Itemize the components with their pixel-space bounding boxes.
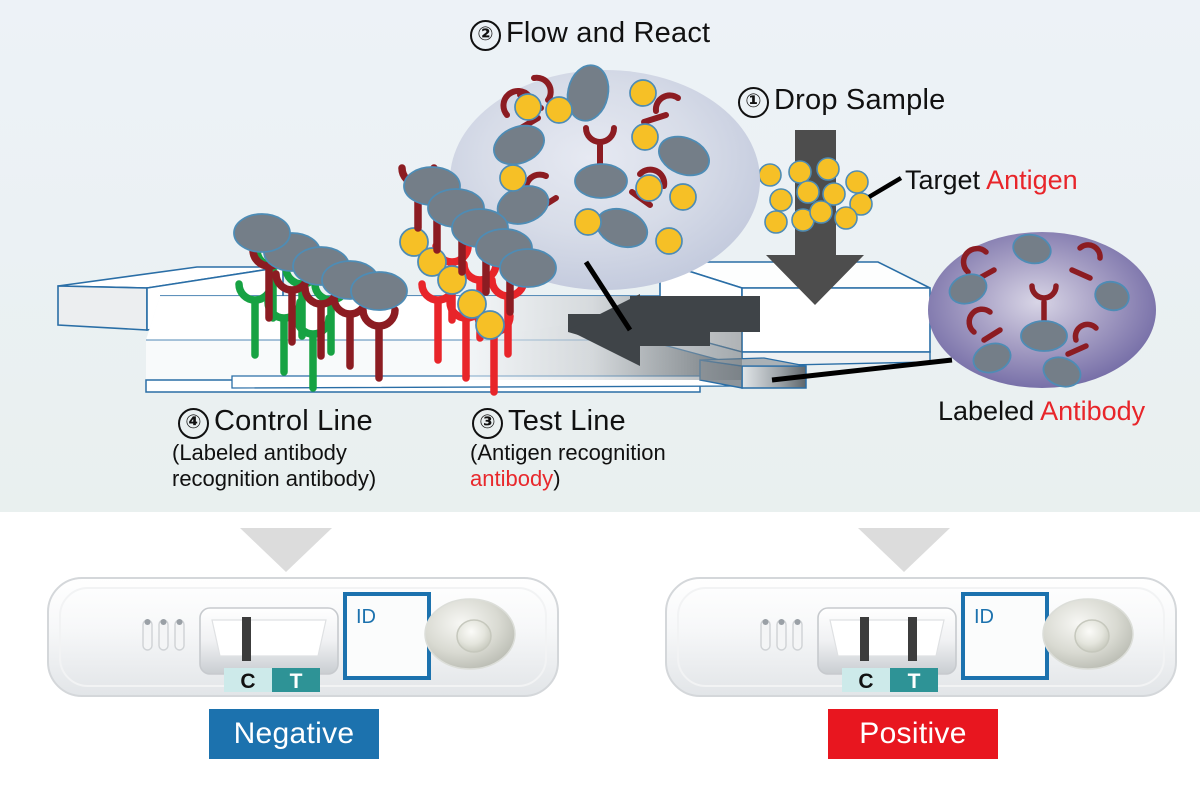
leader-line-antigen bbox=[869, 178, 901, 197]
step-3-sub-red: antibody bbox=[470, 466, 553, 491]
labeled-antibody-label: Labeled Antibody bbox=[938, 396, 1145, 427]
step-1-number: ① bbox=[738, 87, 769, 118]
step-4-label: Control Line bbox=[214, 405, 373, 437]
step-2-title: ②Flow and React bbox=[470, 17, 710, 51]
result-badge-negative: Negative bbox=[209, 709, 379, 759]
band-control bbox=[242, 617, 251, 661]
step-3-label: Test Line bbox=[508, 405, 626, 437]
step-1-label: Drop Sample bbox=[774, 84, 945, 116]
step-4-sublabel: (Labeled antibody recognition antibody) bbox=[172, 440, 376, 492]
vent-slots-icon-2 bbox=[761, 619, 802, 650]
down-triangle-icon-left bbox=[240, 528, 332, 572]
id-label-positive: ID bbox=[974, 606, 994, 628]
vent-slots-icon bbox=[143, 619, 184, 650]
sample-well-inner-2 bbox=[1075, 620, 1109, 652]
band-label-t-negative: T bbox=[290, 670, 303, 693]
sample-well-inner bbox=[457, 620, 491, 652]
step-1-title: ①Drop Sample bbox=[738, 84, 945, 118]
step-4-sub-line2: recognition antibody) bbox=[172, 466, 376, 492]
band-label-t-positive: T bbox=[908, 670, 921, 693]
step-3-number: ③ bbox=[472, 408, 503, 439]
step-2-number: ② bbox=[470, 20, 501, 51]
labeled-antibody-black: Labeled bbox=[938, 396, 1040, 426]
down-triangle-icon-right bbox=[858, 528, 950, 572]
diagram-canvas: C T ID C T ID ②Flow and React ①Drop Samp… bbox=[0, 0, 1200, 800]
cassette-positive[interactable] bbox=[666, 578, 1176, 696]
step-4-sub-line1: (Labeled antibody bbox=[172, 440, 376, 466]
target-antigen-black: Target bbox=[905, 165, 986, 195]
step-3-sub-black: (Antigen recognition bbox=[470, 440, 666, 466]
cassette-negative[interactable] bbox=[48, 578, 558, 696]
step-3-sublabel: (Antigen recognition antibody) bbox=[470, 440, 666, 492]
step-2-label: Flow and React bbox=[506, 17, 710, 49]
step-3-sub-tail: ) bbox=[553, 466, 560, 491]
step-3-title: ③Test Line bbox=[472, 405, 626, 439]
step-4-title: ④Control Line bbox=[178, 405, 373, 439]
band-label-c-negative: C bbox=[240, 670, 255, 693]
target-antigen-label: Target Antigen bbox=[905, 165, 1078, 196]
result-window-positive bbox=[818, 608, 956, 674]
target-antigen-red: Antigen bbox=[986, 165, 1078, 195]
band-label-c-positive: C bbox=[858, 670, 873, 693]
labeled-antibody-red: Antibody bbox=[1040, 396, 1145, 426]
labeled-antibody-bubble bbox=[928, 231, 1156, 392]
step-4-number: ④ bbox=[178, 408, 209, 439]
band-control-2 bbox=[860, 617, 869, 661]
result-badge-positive: Positive bbox=[828, 709, 998, 759]
band-test-2 bbox=[908, 617, 917, 661]
result-window-negative bbox=[200, 608, 338, 674]
id-label-negative: ID bbox=[356, 606, 376, 628]
